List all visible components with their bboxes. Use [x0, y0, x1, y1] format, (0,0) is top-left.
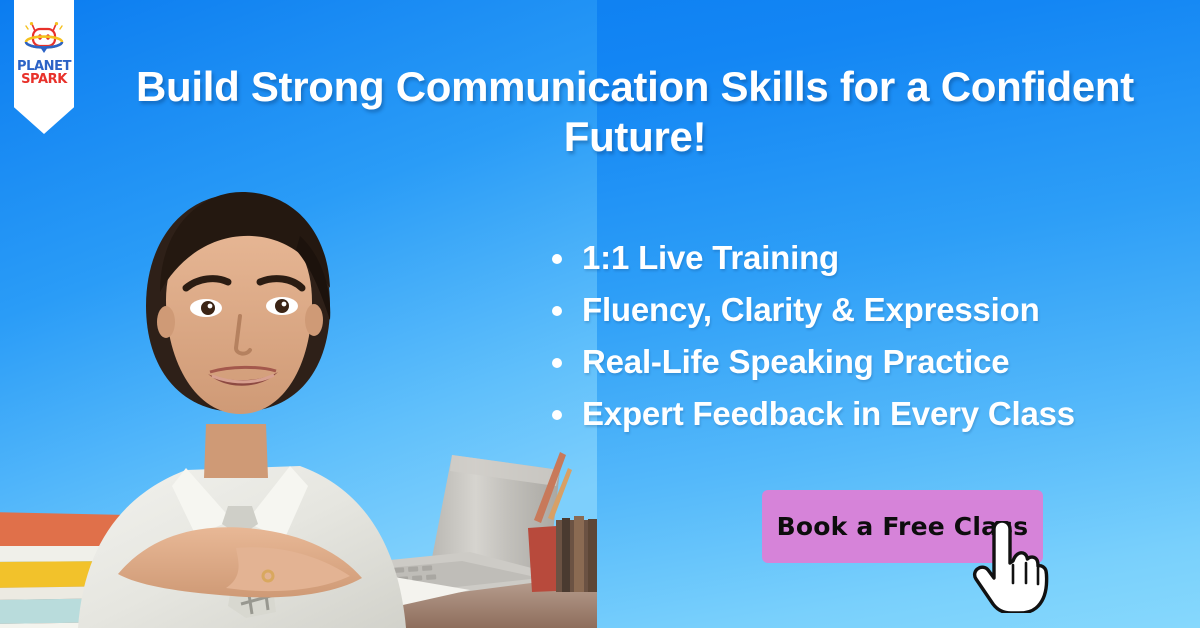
brand-name-spark: Spark	[21, 73, 67, 86]
list-item: 1:1 Live Training	[548, 232, 1075, 284]
promo-banner: Planet Spark Build Strong Communication …	[0, 0, 1200, 628]
book-free-class-button[interactable]: Book a Free Class	[762, 490, 1043, 563]
feature-list: 1:1 Live Training Fluency, Clarity & Exp…	[548, 232, 1075, 440]
planetspark-robot-icon	[22, 22, 66, 56]
brand-logo[interactable]: Planet Spark	[14, 0, 74, 134]
list-item: Fluency, Clarity & Expression	[548, 284, 1075, 336]
list-item: Real-Life Speaking Practice	[548, 336, 1075, 388]
headline: Build Strong Communication Skills for a …	[100, 62, 1170, 162]
list-item: Expert Feedback in Every Class	[548, 388, 1075, 440]
